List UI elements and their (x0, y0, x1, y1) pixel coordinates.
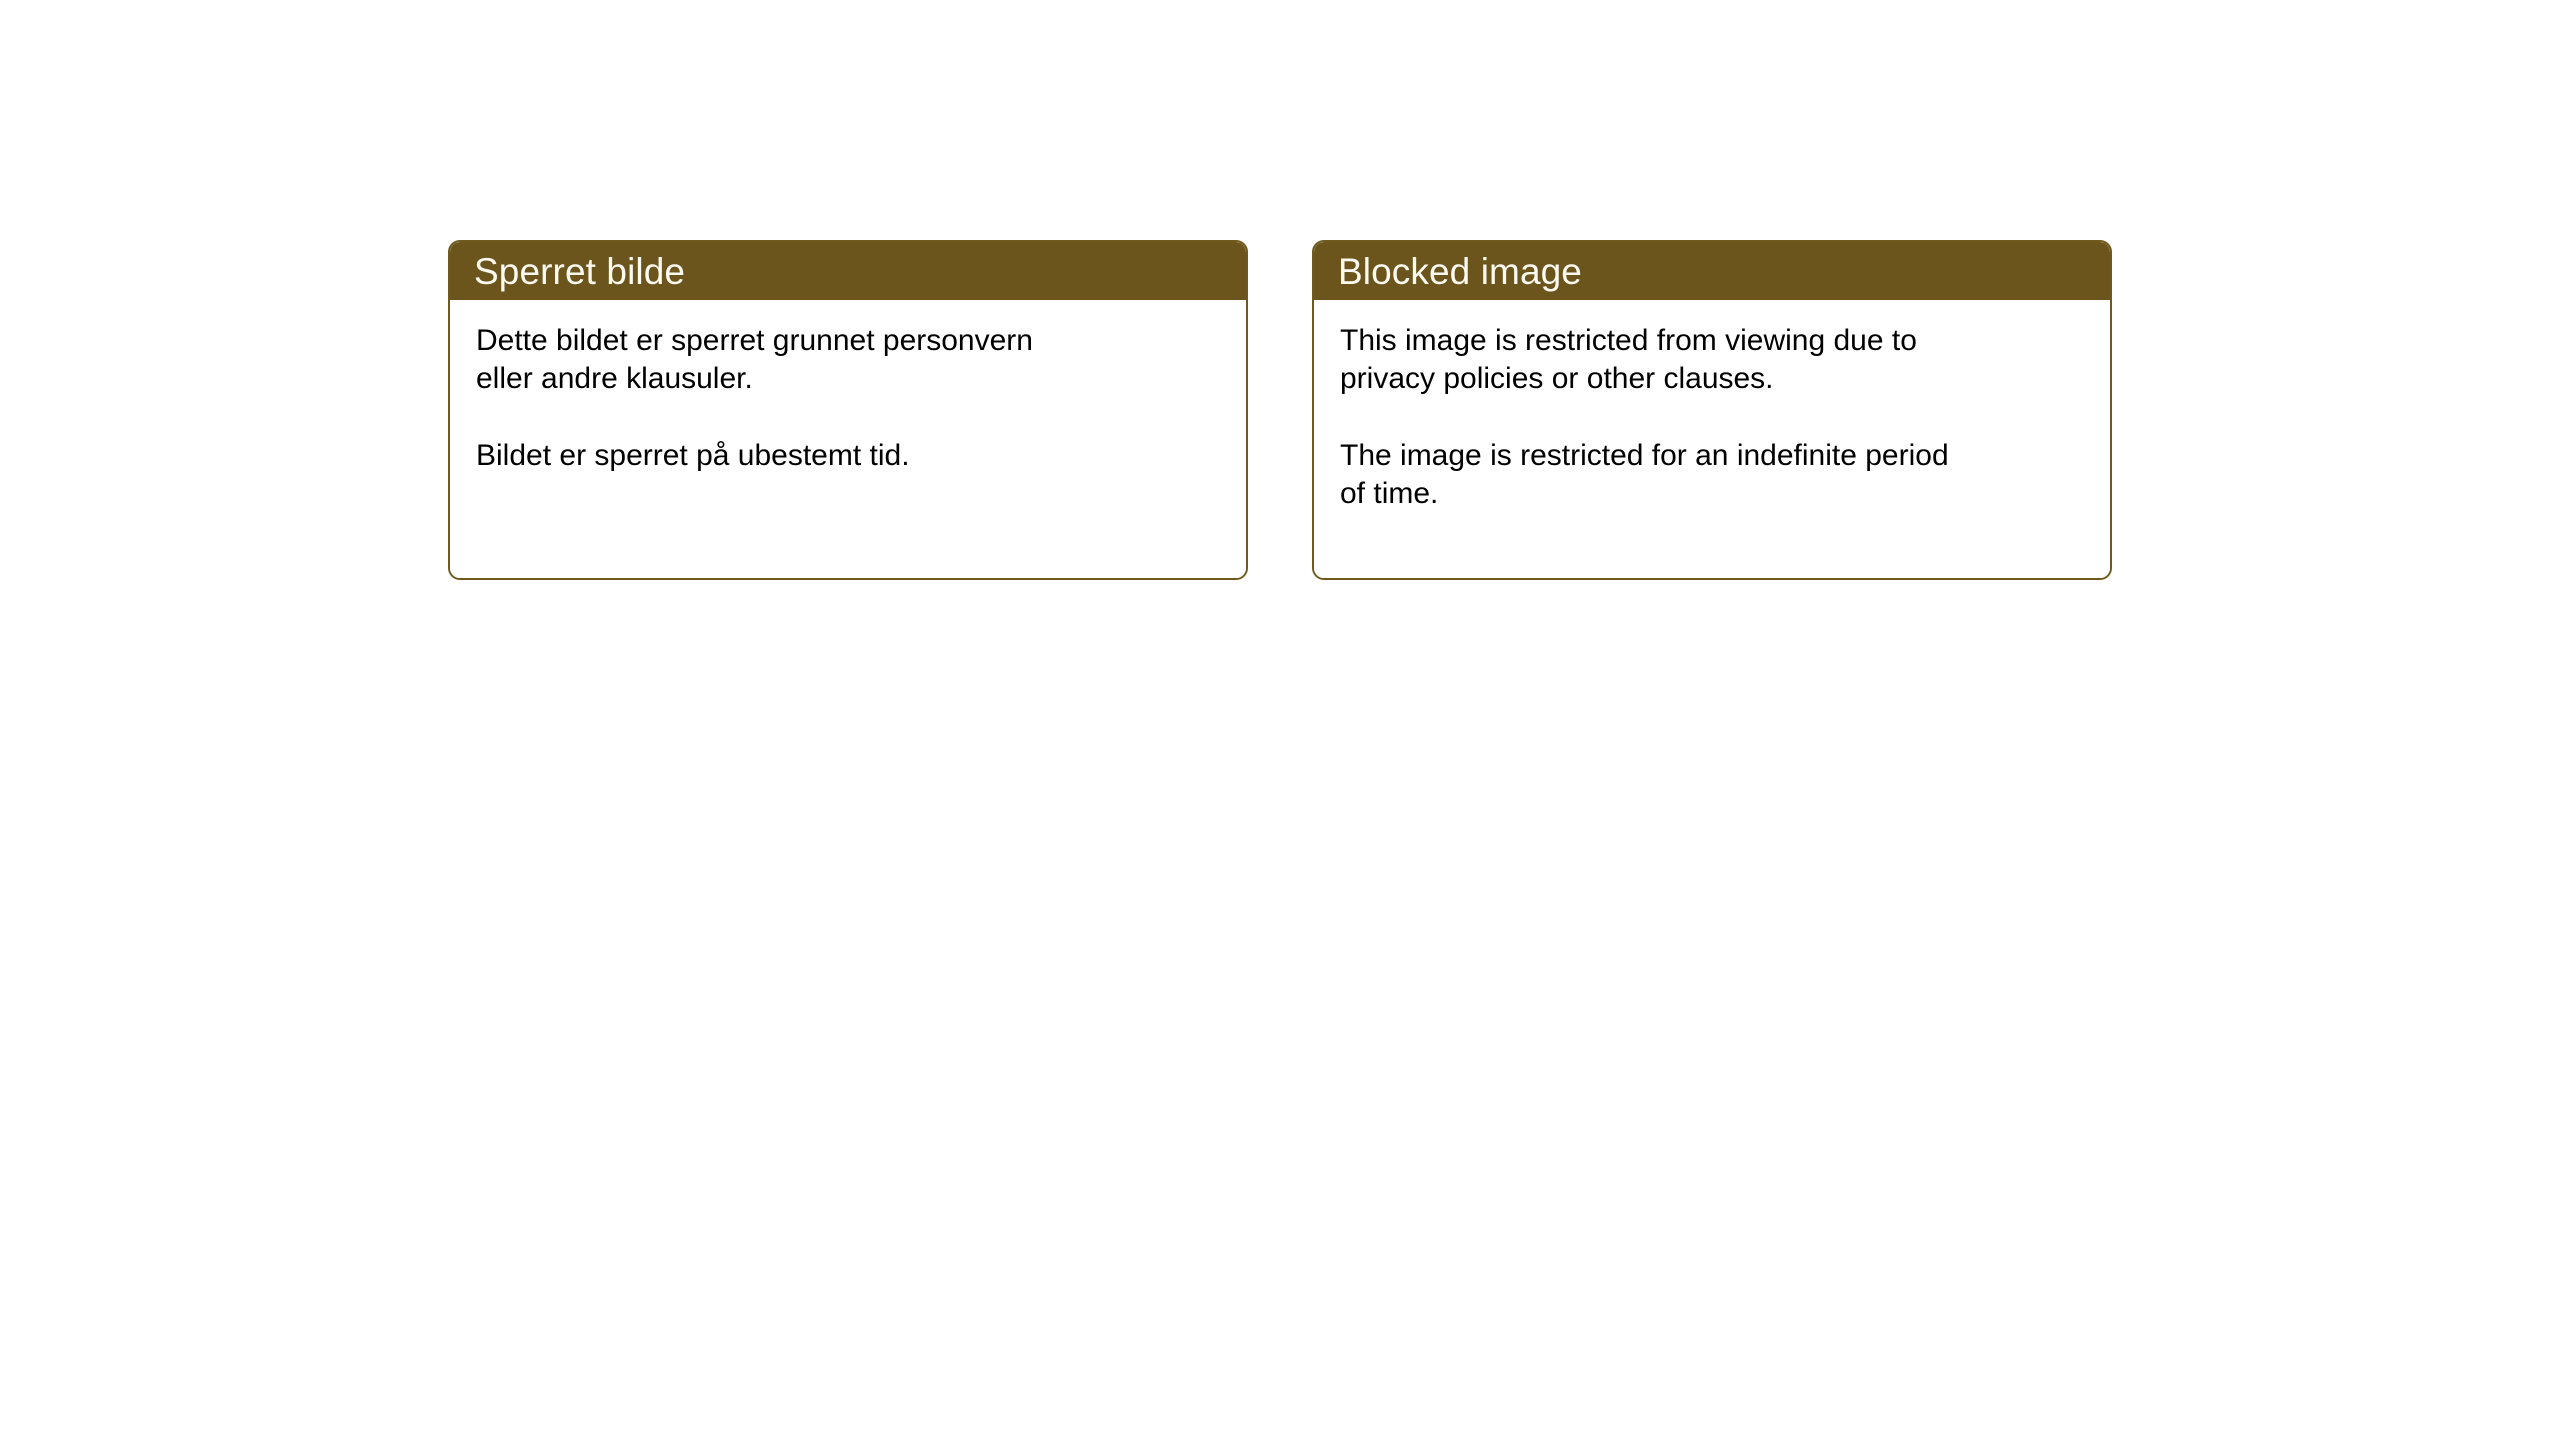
card-title-norwegian: Sperret bilde (474, 253, 685, 290)
card-header-english: Blocked image (1314, 242, 2110, 300)
card-body-norwegian: Dette bildet er sperret grunnet personve… (450, 300, 1246, 578)
card-paragraph-reason-norwegian: Dette bildet er sperret grunnet personve… (476, 322, 1220, 399)
card-title-english: Blocked image (1338, 253, 1582, 290)
card-header-norwegian: Sperret bilde (450, 242, 1246, 300)
blocked-image-notice-card-english: Blocked image This image is restricted f… (1312, 240, 2112, 580)
card-body-english: This image is restricted from viewing du… (1314, 300, 2110, 578)
card-paragraph-reason-english: This image is restricted from viewing du… (1340, 322, 2084, 399)
card-paragraph-duration-english: The image is restricted for an indefinit… (1340, 437, 2084, 514)
page-canvas: Sperret bilde Dette bildet er sperret gr… (0, 0, 2560, 1440)
blocked-image-notice-card-norwegian: Sperret bilde Dette bildet er sperret gr… (448, 240, 1248, 580)
card-paragraph-duration-norwegian: Bildet er sperret på ubestemt tid. (476, 437, 1220, 475)
